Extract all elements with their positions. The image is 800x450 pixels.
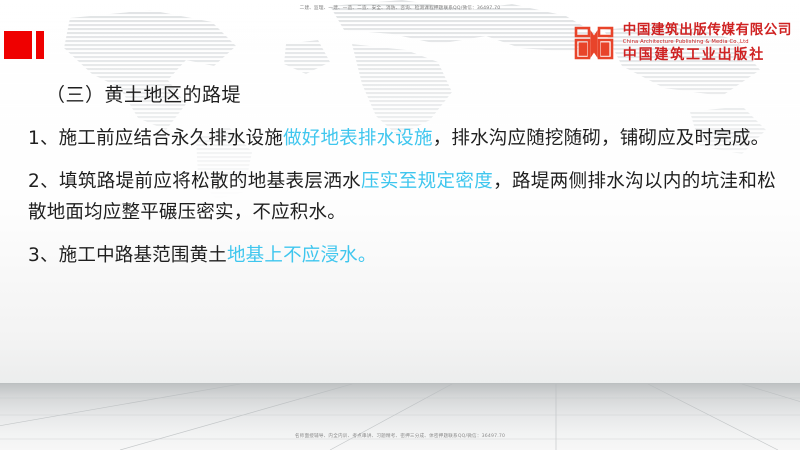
publisher-name-en: China Architecture Publishing & Media Co… <box>623 40 792 45</box>
slide-content: （三）黄土地区的路堤 1、施工前应结合永久排水设施做好地表排水设施，排水沟应随挖… <box>28 80 776 283</box>
red-square-decoration <box>4 31 32 59</box>
red-bar-decoration <box>36 31 44 59</box>
body-paragraph: 3、施工中路基范围黄土地基上不应浸水。 <box>28 240 776 271</box>
plain-text-run: ，排水沟应随挖随砌，铺砌应及时完成。 <box>433 128 770 149</box>
plain-text-run: 2、填筑路堤前应将松散的地基表层洒水 <box>28 171 361 192</box>
publisher-imprint-cn: 中国建筑工业出版社 <box>623 48 792 62</box>
highlighted-text-run: 做好地表排水设施 <box>283 128 433 149</box>
publisher-name-cn: 中国建筑出版传媒有限公司 <box>623 24 792 38</box>
publisher-logo-text: 中国建筑出版传媒有限公司 China Architecture Publishi… <box>623 24 792 62</box>
open-book-logo-icon <box>573 23 615 63</box>
highlighted-text-run: 地基上不应浸水。 <box>227 245 377 266</box>
body-paragraph: 2、填筑路堤前应将松散的地基表层洒水压实至规定密度，路堤两侧排水沟以内的坑洼和松… <box>28 166 776 228</box>
body-paragraph: 1、施工前应结合永久排水设施做好地表排水设施，排水沟应随挖随砌，铺砌应及时完成。 <box>28 123 776 154</box>
bottom-watermark-note: 名师面授辅导、内全内训、考点串讲、习题精考、密押三分成、体密押题联系QQ/微信：… <box>0 433 800 441</box>
publisher-logo: 中国建筑出版传媒有限公司 China Architecture Publishi… <box>573 23 792 63</box>
highlighted-text-run: 压实至规定密度 <box>361 171 493 192</box>
plain-text-run: 3、施工中路基范围黄土 <box>28 245 227 266</box>
plain-text-run: 1、施工前应结合永久排水设施 <box>28 128 283 149</box>
slide-heading: （三）黄土地区的路堤 <box>46 80 776 107</box>
presentation-slide: 二建、监理、一建、一造、二造、安全、消防、咨询、检测课程押题联系QQ/微信：36… <box>0 0 800 450</box>
top-watermark-note: 二建、监理、一建、一造、二造、安全、消防、咨询、检测课程押题联系QQ/微信：36… <box>0 5 800 13</box>
paragraph-list: 1、施工前应结合永久排水设施做好地表排水设施，排水沟应随挖随砌，铺砌应及时完成。… <box>28 123 776 271</box>
